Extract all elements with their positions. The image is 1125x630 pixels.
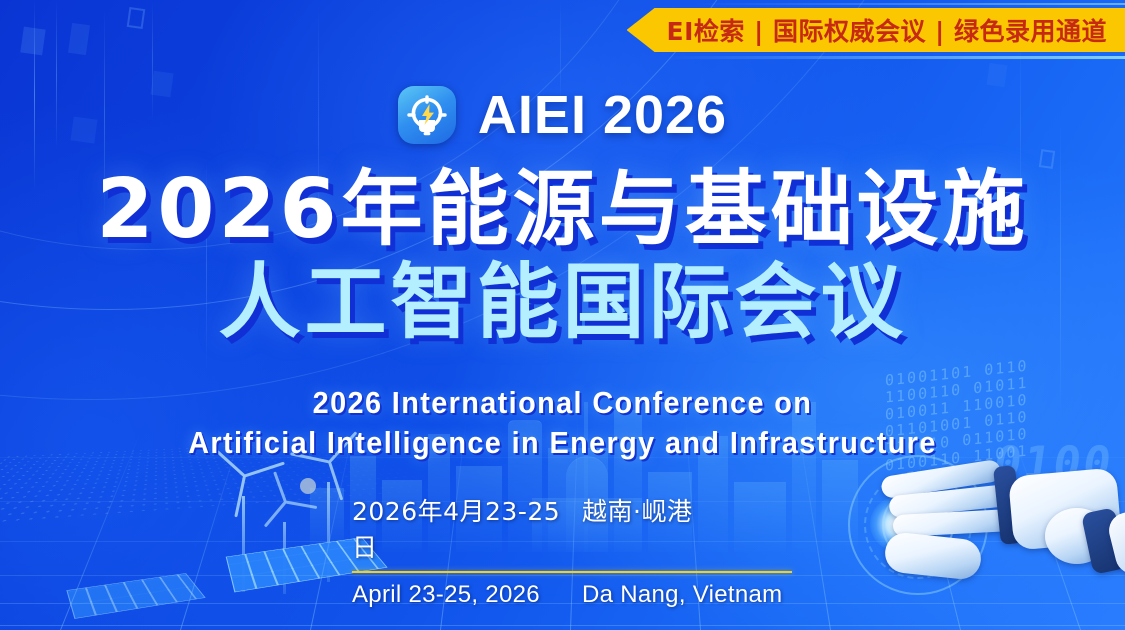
robot-wrist-joint: [1081, 507, 1125, 575]
ribbon-underline: [665, 56, 1125, 59]
chinese-title: 2026年能源与基础设施 人工智能国际会议: [0, 166, 1125, 347]
english-title-line2: Artificial Intelligence in Energy and In…: [39, 423, 1085, 463]
robot-palm: [1008, 467, 1122, 550]
ribbon-text: EI检索 | 国际权威会议 | 绿色录用通道: [667, 12, 1107, 48]
event-details-cn-row: 2026年4月23-25日 越南·岘港: [352, 492, 792, 564]
hud-ring-inner: [882, 489, 954, 561]
robot-forearm: [1105, 488, 1125, 577]
wind-turbine: [208, 476, 278, 592]
event-date-cn: 2026年4月23-25日: [352, 492, 582, 564]
robot-finger: [888, 484, 1014, 519]
robot-knuckle-joint: [993, 465, 1023, 545]
conference-banner: 01001101 0110 1100110 01011 010011 11001…: [0, 0, 1125, 630]
floating-square-outline: [127, 7, 146, 29]
robot-finger: [893, 509, 1016, 537]
ribbon-banner: EI检索 | 国际权威会议 | 绿色录用通道: [627, 8, 1125, 52]
event-details-en-row: April 23-25, 2026 Da Nang, Vietnam: [352, 581, 792, 609]
brand-name: AIEI 2026: [478, 88, 727, 142]
floating-square: [987, 63, 1008, 87]
event-location-cn: 越南·岘港: [582, 492, 792, 528]
brand-row: AIEI 2026: [0, 86, 1125, 144]
wind-turbine: [296, 462, 360, 582]
robot-hand: [875, 462, 1125, 630]
event-details: 2026年4月23-25日 越南·岘港 April 23-25, 2026 Da…: [352, 492, 792, 609]
hud-orb: [848, 455, 988, 595]
floating-square: [68, 23, 90, 55]
english-title: 2026 International Conference on Artific…: [0, 383, 1125, 462]
robot-wrist-ring: [1045, 508, 1109, 564]
ribbon-shape: EI检索 | 国际权威会议 | 绿色录用通道: [627, 8, 1125, 52]
event-location-en: Da Nang, Vietnam: [582, 581, 792, 609]
sun-dot: [300, 478, 316, 494]
chinese-title-line1: 2026年能源与基础设施: [0, 166, 1125, 255]
hud-ring-outer: [848, 455, 988, 595]
energy-bolt-logo-icon: [398, 86, 456, 144]
chinese-title-line2: 人工智能国际会议: [0, 259, 1125, 348]
english-title-line1: 2026 International Conference on: [39, 383, 1085, 423]
hud-ring-mid: [864, 471, 972, 579]
hud-core-glow: [870, 497, 924, 551]
robot-finger: [880, 459, 1002, 500]
solar-panel: [66, 573, 205, 619]
event-date-en: April 23-25, 2026: [352, 581, 582, 609]
ribbon-top-accent-line: [695, 3, 1125, 5]
wind-turbine: [258, 502, 310, 594]
floating-square: [20, 27, 45, 56]
details-divider-rule: [352, 571, 792, 573]
robot-thumb: [883, 531, 983, 581]
logo-bolt-mark: [398, 86, 456, 144]
